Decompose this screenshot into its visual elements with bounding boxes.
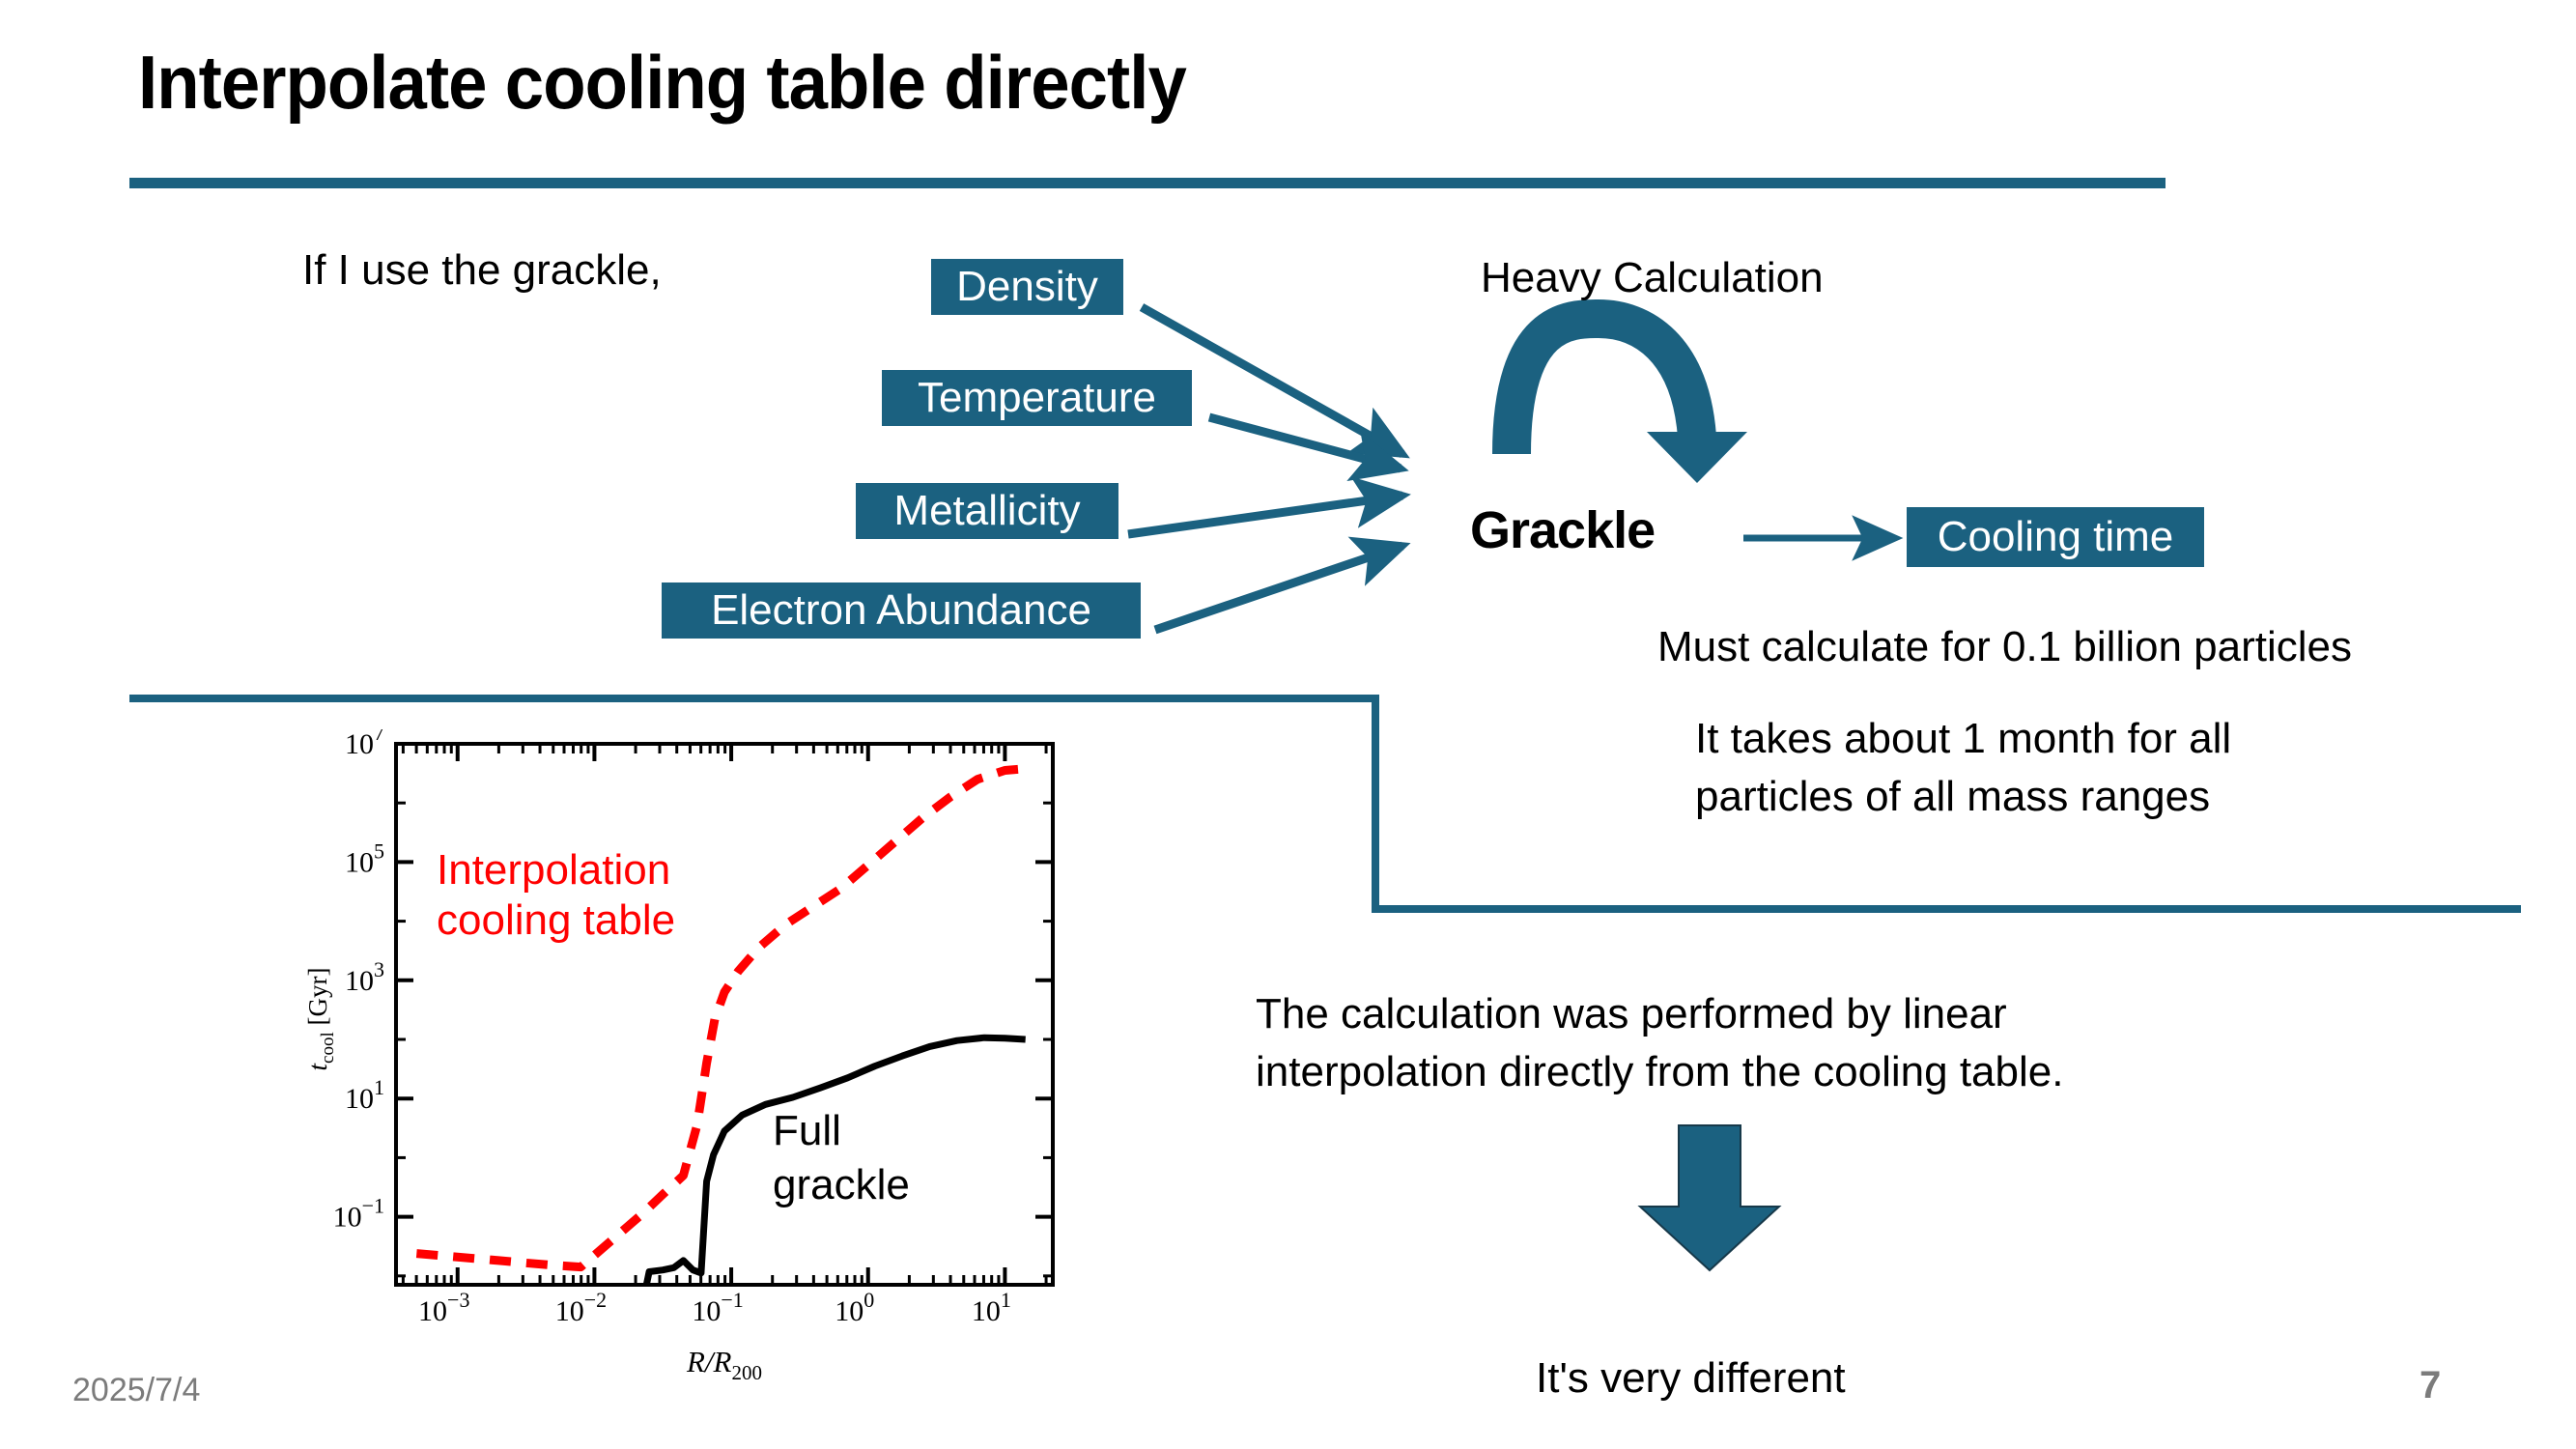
cooling-time-chart: 10710510310110−1 10−310−210−1100101 tcoo… (290, 729, 1256, 1406)
heavy-calculation-label: Heavy Calculation (1481, 254, 1824, 302)
input-box-temperature[interactable]: Temperature (882, 370, 1192, 426)
svg-text:101: 101 (972, 1288, 1011, 1327)
input-box-temperature-label: Temperature (918, 377, 1156, 419)
conclusion-line1: The calculation was performed by linear (1256, 990, 2007, 1038)
chart-y-tick-labels: 10710510310110−1 (333, 729, 384, 1234)
conclusion-result: It's very different (1536, 1354, 1846, 1403)
chart-x-tick-labels: 10−310−210−1100101 (418, 1288, 1011, 1327)
input-box-metallicity-label: Metallicity (893, 490, 1080, 532)
heavy-calculation-loop-arrow (1512, 319, 1747, 483)
chart-ticks (396, 744, 1053, 1285)
svg-text:10−1: 10−1 (692, 1288, 743, 1327)
svg-text:Interpolation: Interpolation (437, 846, 670, 894)
chart-annotation-full-grackle: Fullgrackle (773, 1107, 910, 1208)
down-arrow-icon (1632, 1123, 1787, 1273)
arrow-metallicity (1128, 496, 1402, 534)
svg-text:103: 103 (345, 957, 384, 997)
svg-text:105: 105 (345, 838, 384, 878)
arrow-temperature (1209, 417, 1401, 469)
svg-text:10−3: 10−3 (418, 1288, 469, 1327)
input-box-electron-abundance-label: Electron Abundance (711, 589, 1091, 632)
bracket-top-segment (129, 695, 1379, 702)
input-box-metallicity[interactable]: Metallicity (856, 483, 1118, 539)
svg-text:10−1: 10−1 (333, 1194, 384, 1234)
bracket-vertical-segment (1372, 695, 1379, 913)
svg-text:10−2: 10−2 (555, 1288, 607, 1327)
chart-series-interpolation (416, 769, 1025, 1267)
note-duration-line1: It takes about 1 month for all (1695, 715, 2231, 763)
input-box-density[interactable]: Density (931, 259, 1123, 315)
chart-x-axis-title: R/R200 (686, 1345, 762, 1384)
conclusion-line2: interpolation directly from the cooling … (1256, 1048, 2063, 1096)
chart-svg: 10710510310110−1 10−310−210−1100101 tcoo… (290, 729, 1256, 1406)
note-particle-count: Must calculate for 0.1 billion particles (1657, 623, 2352, 671)
input-box-electron-abundance[interactable]: Electron Abundance (662, 582, 1141, 639)
chart-y-axis-title: tcool [Gyr] (303, 968, 338, 1071)
bracket-bottom-segment (1372, 905, 2521, 913)
svg-text:100: 100 (835, 1288, 874, 1327)
page-title: Interpolate cooling table directly (138, 39, 1186, 127)
chart-annotation-interpolation: Interpolationcooling table (437, 846, 675, 944)
output-box-cooling-time-label: Cooling time (1938, 516, 2174, 558)
footer-page-number: 7 (2420, 1364, 2441, 1407)
output-box-cooling-time[interactable]: Cooling time (1907, 507, 2204, 567)
svg-text:grackle: grackle (773, 1161, 910, 1208)
input-box-density-label: Density (956, 266, 1098, 308)
footer-date: 2025/7/4 (72, 1372, 200, 1409)
svg-text:Full: Full (773, 1107, 841, 1154)
note-duration-line2: particles of all mass ranges (1695, 773, 2210, 821)
intro-text: If I use the grackle, (302, 246, 662, 295)
slide: Interpolate cooling table directly If I … (0, 0, 2576, 1449)
svg-text:101: 101 (345, 1075, 384, 1115)
title-underline (129, 178, 2166, 188)
grackle-label: Grackle (1470, 500, 1655, 560)
arrow-electron-abundance (1155, 546, 1402, 630)
chart-plot-frame (396, 744, 1053, 1285)
svg-text:cooling table: cooling table (437, 896, 675, 944)
svg-text:107: 107 (345, 729, 384, 760)
